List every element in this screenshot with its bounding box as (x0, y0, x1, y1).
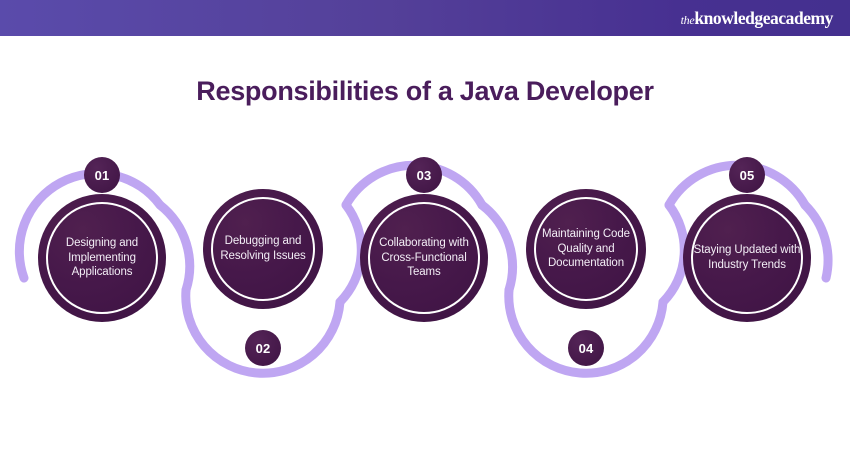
process-node-2[interactable]: Debugging and Resolving Issues (203, 189, 323, 309)
process-node-5[interactable]: Staying Updated with Industry Trends (683, 194, 811, 322)
process-node-1-label: Designing and Implementing Applications (47, 236, 157, 280)
process-node-3[interactable]: Collaborating with Cross-Functional Team… (360, 194, 488, 322)
arc-segment-4b (663, 205, 684, 302)
process-flow-diagram: Designing and Implementing Applications … (0, 0, 850, 450)
process-node-5-badge: 05 (729, 157, 765, 193)
process-node-3-label: Collaborating with Cross-Functional Team… (369, 236, 479, 280)
process-node-4-label: Maintaining Code Quality and Documentati… (534, 227, 637, 271)
process-node-1-badge: 01 (84, 157, 120, 193)
process-node-4[interactable]: Maintaining Code Quality and Documentati… (526, 189, 646, 309)
process-node-5-label: Staying Updated with Industry Trends (692, 243, 802, 272)
process-node-4-badge: 04 (568, 330, 604, 366)
process-node-3-badge: 03 (406, 157, 442, 193)
arc-segment-2b (340, 205, 361, 302)
process-node-2-label: Debugging and Resolving Issues (211, 234, 314, 263)
process-node-2-badge: 02 (245, 330, 281, 366)
process-node-1[interactable]: Designing and Implementing Applications (38, 194, 166, 322)
